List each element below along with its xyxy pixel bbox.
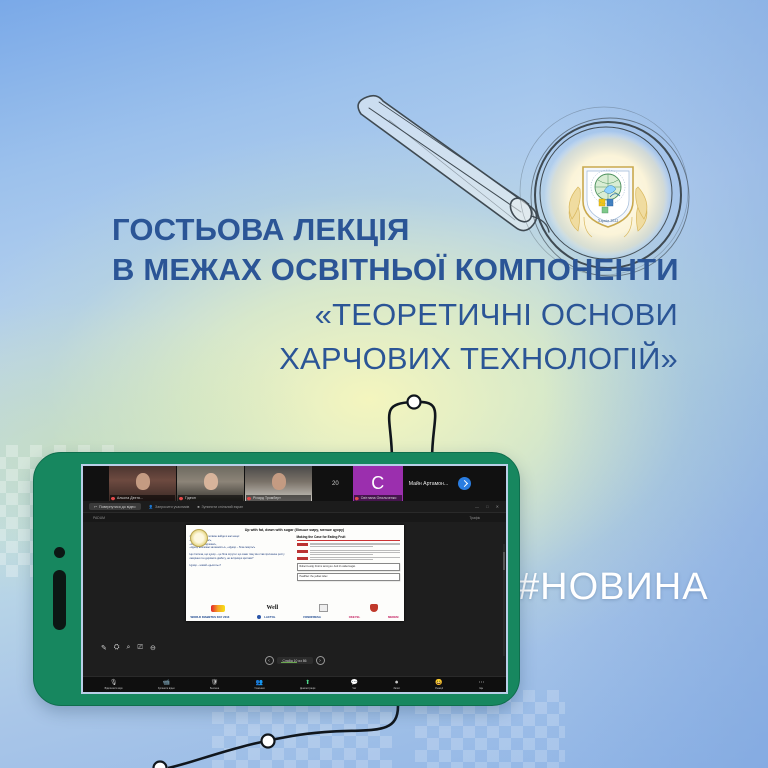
more-icon: ⋯ [478,680,484,686]
page-title: ГОСТЬОВА ЛЕКЦІЯ В МЕЖАХ ОСВІТНЬОЇ КОМПОН… [0,212,700,376]
reactions-icon: 😀 [435,680,442,686]
slide-prev-button[interactable]: ‹ [264,656,273,665]
lactol-label: LACTOL [264,615,275,619]
slide-footer-bar: WORLD DIABETES DAY 2013 LACTOL FONOFRESA… [186,613,404,621]
spotlight-tool-icon[interactable]: ⎚ [137,644,143,652]
slide-brand-row: Well [186,604,404,612]
back-to-video-button[interactable]: ↩ Повернутися до відео [89,503,141,510]
slide-column-right: Making the Case for Eating Fruit [297,535,400,581]
record-button[interactable]: ⏺ Запис [393,680,400,690]
chat-icon: 💬 [351,680,358,686]
hashtag-label: #НОВИНА [518,566,709,609]
slide-counter: Слайд 10 из 86 [276,657,312,664]
invite-participants-button[interactable]: 👤 Запросити учасників [149,505,190,509]
stop-share-button[interactable]: ■ Зупинити спільний екран [197,505,243,509]
phone-side-button[interactable] [53,570,66,630]
phone-camera-icon [54,547,65,558]
zoom-tool-icon[interactable]: ⌕ [126,644,130,652]
stop-share-label: Зупинити спільний екран [202,505,244,509]
share-screen-button[interactable]: ⬆ Демонстрація [300,680,315,690]
more-label: Ще [480,687,484,690]
stamp-tool-icon[interactable]: ⛭ [114,644,120,652]
slide-paragraph: Це гіпотеза, що цукор – це біла отрута і… [190,553,293,561]
world-diabetes-day-label: WORLD DIABETES DAY 2013 [191,615,230,619]
mute-button[interactable]: 🎙 Відключити звук [105,680,123,690]
brand-box-icon [319,604,328,612]
slide-navigation: ‹ Слайд 10 из 86 › [264,656,324,665]
row-lines [310,543,400,549]
slide-right-row [297,550,400,556]
video-icon: 📹 [163,680,170,686]
slide-right-row [297,557,400,561]
slide-logo-icon [190,529,208,547]
brand-well-label: Well [266,605,278,611]
pen-tool-icon[interactable]: ✎ [101,644,107,652]
invite-label: Запросити учасників [155,505,189,509]
video-button[interactable]: 📹 Зупинити відео [158,680,175,690]
chat-button[interactable]: 💬 Чат [351,680,358,690]
gallery-next-icon[interactable] [458,477,471,490]
erase-tool-icon[interactable]: ⊖ [150,644,156,652]
slide-question: Цукор – новий «дьоготь»? [190,564,293,568]
screen-share-toolbar: ↩ Повернутися до відео 👤 Запросити учасн… [83,501,506,513]
window-controls[interactable]: — □ ✕ [475,504,502,509]
chat-label: Чат [352,687,356,690]
avatar-initial: C [371,473,384,494]
presentation-slide: Up with fat, down with sugar (більше жир… [186,525,404,621]
smartphone-mockup: Альона Дехтя... Гідеон Ріхард Тромберт [33,452,520,706]
row-lines [310,557,400,561]
slide-right-title: Making the Case for Eating Fruit [297,535,400,541]
microphone-icon: 🎙 [110,680,118,686]
record-icon: ⏺ [395,680,398,686]
participant-gallery: Альона Дехтя... Гідеон Ріхард Тромберт [83,466,506,501]
headline-line-3: «ТЕОРЕТИЧНІ ОСНОВИ [0,297,700,332]
avatar [272,473,286,490]
medem-label: MEDEM [388,615,398,619]
participant-count: 20 [332,481,339,487]
participants-button[interactable]: 👥 Учасники [254,680,264,690]
participants-icon: 👥 [256,680,263,686]
share-screen-icon: ⬆ [305,680,310,686]
slide-callout: Healthier: the yellow index [297,573,400,581]
headline-line-4: ХАРЧОВИХ ТЕХНОЛОГІЙ» [0,341,700,376]
more-button[interactable]: ⋯ Ще [478,680,484,690]
poster-canvas: Харків 2022 ГОСТЬОВА ЛЕКЦІЯ В МЕЖАХ ОСВІ… [0,0,768,768]
headline-line-2: В МЕЖАХ ОСВІТНЬОЇ КОМПОНЕНТИ [0,252,700,287]
record-label: Запис [393,687,400,690]
doc-left-label: PADUM [93,516,105,520]
video-label: Зупинити відео [158,687,175,690]
zoom-meeting-window: Альона Дехтя... Гідеон Ріхард Тромберт [83,466,506,692]
share-screen-label: Демонстрація [300,687,315,690]
avatar [136,473,150,490]
shared-slide-stage: Up with fat, down with sugar (більше жир… [83,522,506,676]
stop-share-icon: ■ [197,505,199,509]
document-info-bar: PADUM Трафік [83,513,506,522]
reactions-label: Реакції [435,687,443,690]
slide-callout: Robert Lustig: Fruit is wrong so. And it… [297,563,400,571]
fonofresa-label: FONOFRESA [303,615,321,619]
doc-right-label: Трафік [469,516,480,520]
lactol-dot-icon [257,615,261,619]
back-to-video-label: Повернутися до відео [99,505,136,509]
mute-label: Відключити звук [105,687,123,690]
security-icon: 🛡 [211,680,219,686]
slide-columns: Зі справжньою логікою вийде в нас нещо: … [186,532,404,581]
headline-line-1: ГОСТЬОВА ЛЕКЦІЯ [0,212,700,247]
zoom-bottom-toolbar: 🎙 Відключити звук 📹 Зупинити відео 🛡 Без… [83,676,506,692]
okeyel-label: OKEYEL [349,615,361,619]
avatar [204,473,218,490]
vertical-scrollbar[interactable] [503,544,505,656]
back-arrow-icon: ↩ [94,505,97,509]
row-tag [297,550,308,553]
slide-bullet: «Цукор викликає залежність!», «Цукор – б… [190,546,293,550]
slide-next-button[interactable]: › [316,656,325,665]
person-add-icon: 👤 [149,505,153,509]
checker-pattern-middle [212,700,392,768]
reactions-button[interactable]: 😀 Реакції [435,680,443,690]
swoosh-icon [211,605,225,612]
row-tag [297,557,308,560]
slide-right-row [297,543,400,549]
participant-tile[interactable]: Ріхард Тромберт [245,466,312,501]
security-button[interactable]: 🛡 Безпека [210,680,219,690]
annotation-toolbar: ✎ ⛭ ⌕ ⎚ ⊖ [101,644,156,652]
security-label: Безпека [210,687,219,690]
participant-tile[interactable]: Гідеон [177,466,244,501]
participants-label: Учасники [254,687,264,690]
participant-tile[interactable]: Альона Дехтя... [109,466,176,501]
lactol-brand: LACTOL [257,615,275,619]
row-tag [297,543,308,546]
spotlight-participant-name: Майн Артамон... [409,481,449,487]
row-lines [310,550,400,556]
participant-tile-avatar[interactable]: C Світлана Онильченко [353,466,403,501]
brand-shield-icon [370,604,378,612]
phone-screen: Альона Дехтя... Гідеон Ріхард Тромберт [81,464,508,694]
